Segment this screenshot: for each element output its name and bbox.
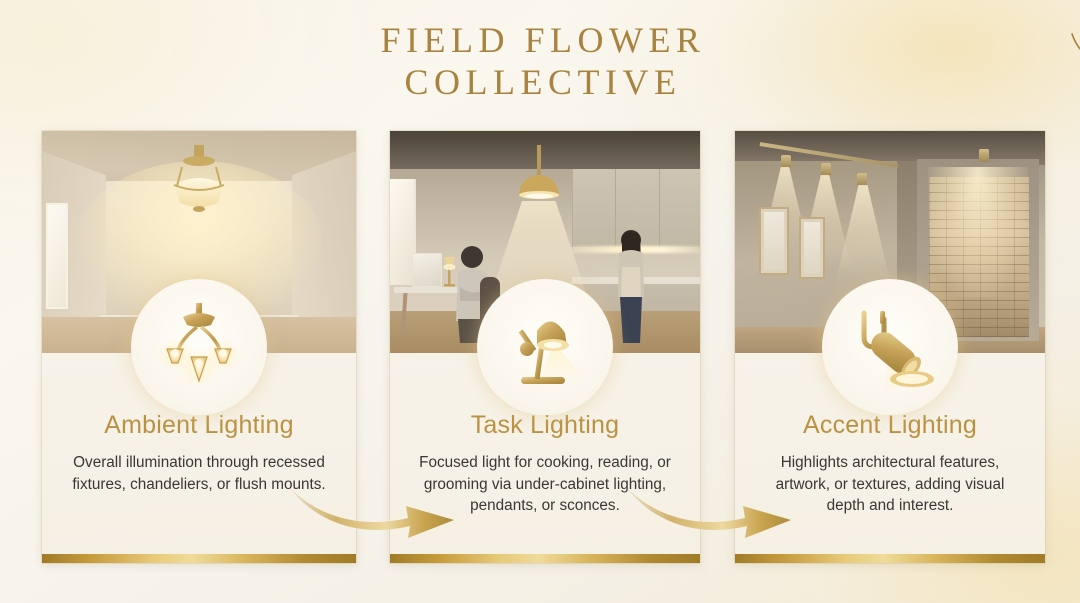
brand-header: FIELD FLOWER COLLECTIVE xyxy=(0,22,1080,102)
card-task-title: Task Lighting xyxy=(406,411,684,440)
brand-title-line-1: FIELD FLOWER xyxy=(0,22,1080,59)
card-ambient[interactable]: Ambient Lighting Overall illumination th… xyxy=(42,131,356,563)
card-ambient-description: Overall illumination through recessed fi… xyxy=(58,452,340,495)
card-accent-title: Accent Lighting xyxy=(751,411,1029,440)
card-ambient-title: Ambient Lighting xyxy=(58,411,340,440)
card-task[interactable]: Task Lighting Focused light for cooking,… xyxy=(390,131,700,563)
chandelier-icon xyxy=(131,279,267,415)
brand-title-line-2: COLLECTIVE xyxy=(0,64,1080,101)
desk-lamp-icon xyxy=(477,279,613,415)
lighting-type-card-row: Ambient Lighting Overall illumination th… xyxy=(0,131,1080,571)
card-ambient-accent-bar xyxy=(42,554,356,563)
card-accent[interactable]: Accent Lighting Highlights architectural… xyxy=(735,131,1045,563)
card-task-description: Focused light for cooking, reading, or g… xyxy=(406,452,684,517)
card-accent-description: Highlights architectural features, artwo… xyxy=(751,452,1029,517)
card-task-accent-bar xyxy=(390,554,700,563)
track-spotlight-icon xyxy=(822,279,958,415)
card-accent-accent-bar xyxy=(735,554,1045,563)
